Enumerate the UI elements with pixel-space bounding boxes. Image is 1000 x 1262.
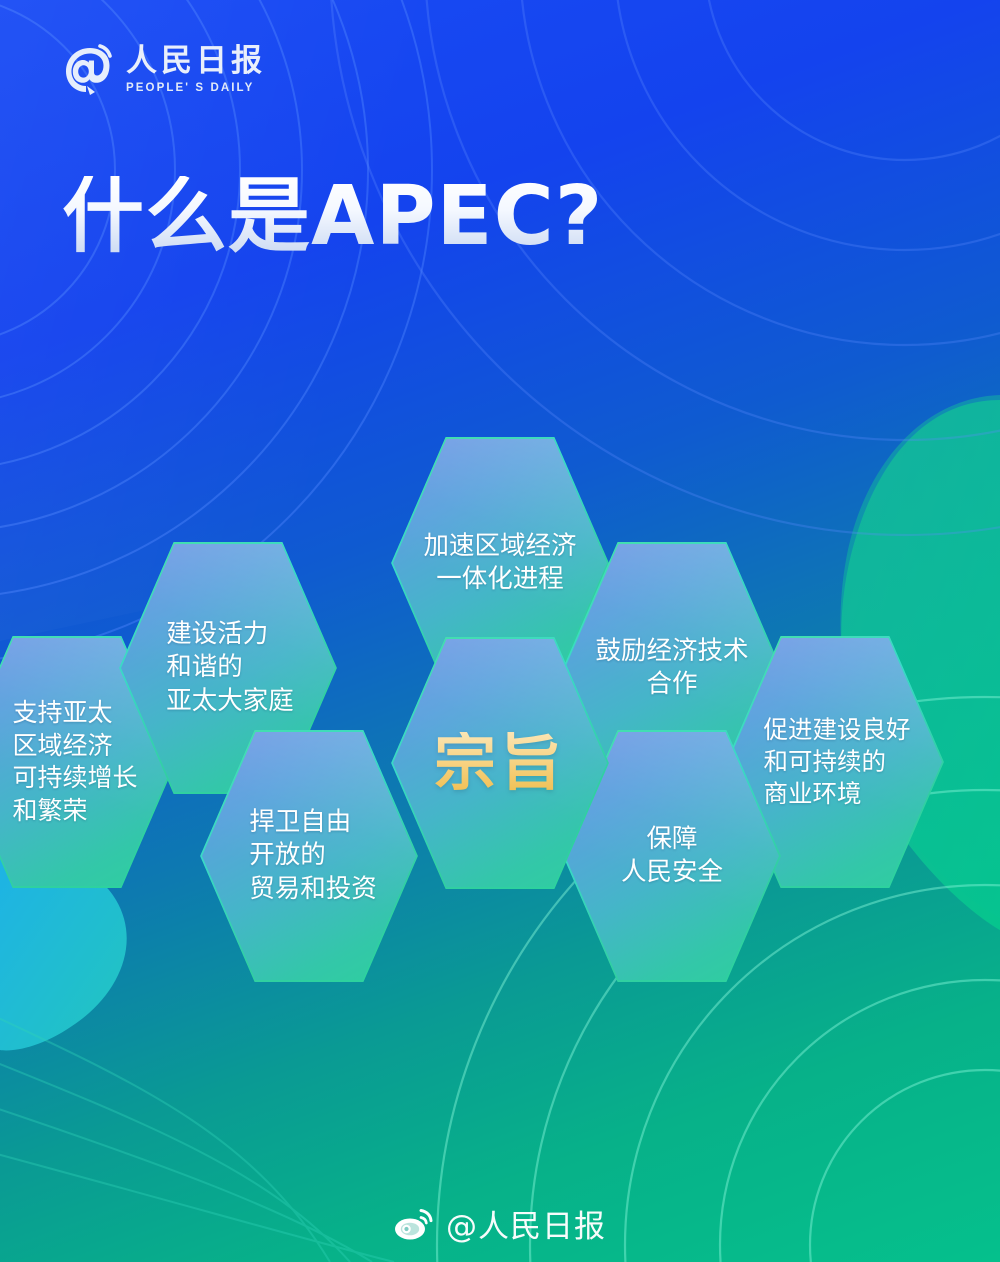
hexagon-diagram: 支持亚太 区域经济 可持续增长 和繁荣 建设活力 和谐的 亚太大家庭 加速区域经… (0, 0, 1000, 1262)
hexagon-label: 建设活力 和谐的 亚太大家庭 (156, 618, 300, 717)
hexagon-label: 促进建设良好 和可持续的 商业环境 (754, 714, 917, 810)
hexagon-center-label: 宗旨 (428, 732, 572, 794)
hexagon-label: 捍卫自由 开放的 贸易和投资 (235, 806, 383, 905)
hexagon-label: 加速区域经济 一体化进程 (417, 530, 582, 596)
poster: 人民日报 PEOPLE' S DAILY 什么是APEC? 支持亚太 区域经济 … (0, 0, 1000, 1262)
hexagon-label: 鼓励经济技术 合作 (589, 635, 754, 701)
hexagon-label: 支持亚太 区域经济 可持续增长 和繁荣 (0, 697, 144, 827)
footer-handle: @人民日报 (446, 1201, 606, 1246)
weibo-icon (394, 1208, 434, 1240)
hexagon-label: 保障 人民安全 (615, 823, 729, 889)
footer-credit: @人民日报 (0, 1201, 1000, 1246)
